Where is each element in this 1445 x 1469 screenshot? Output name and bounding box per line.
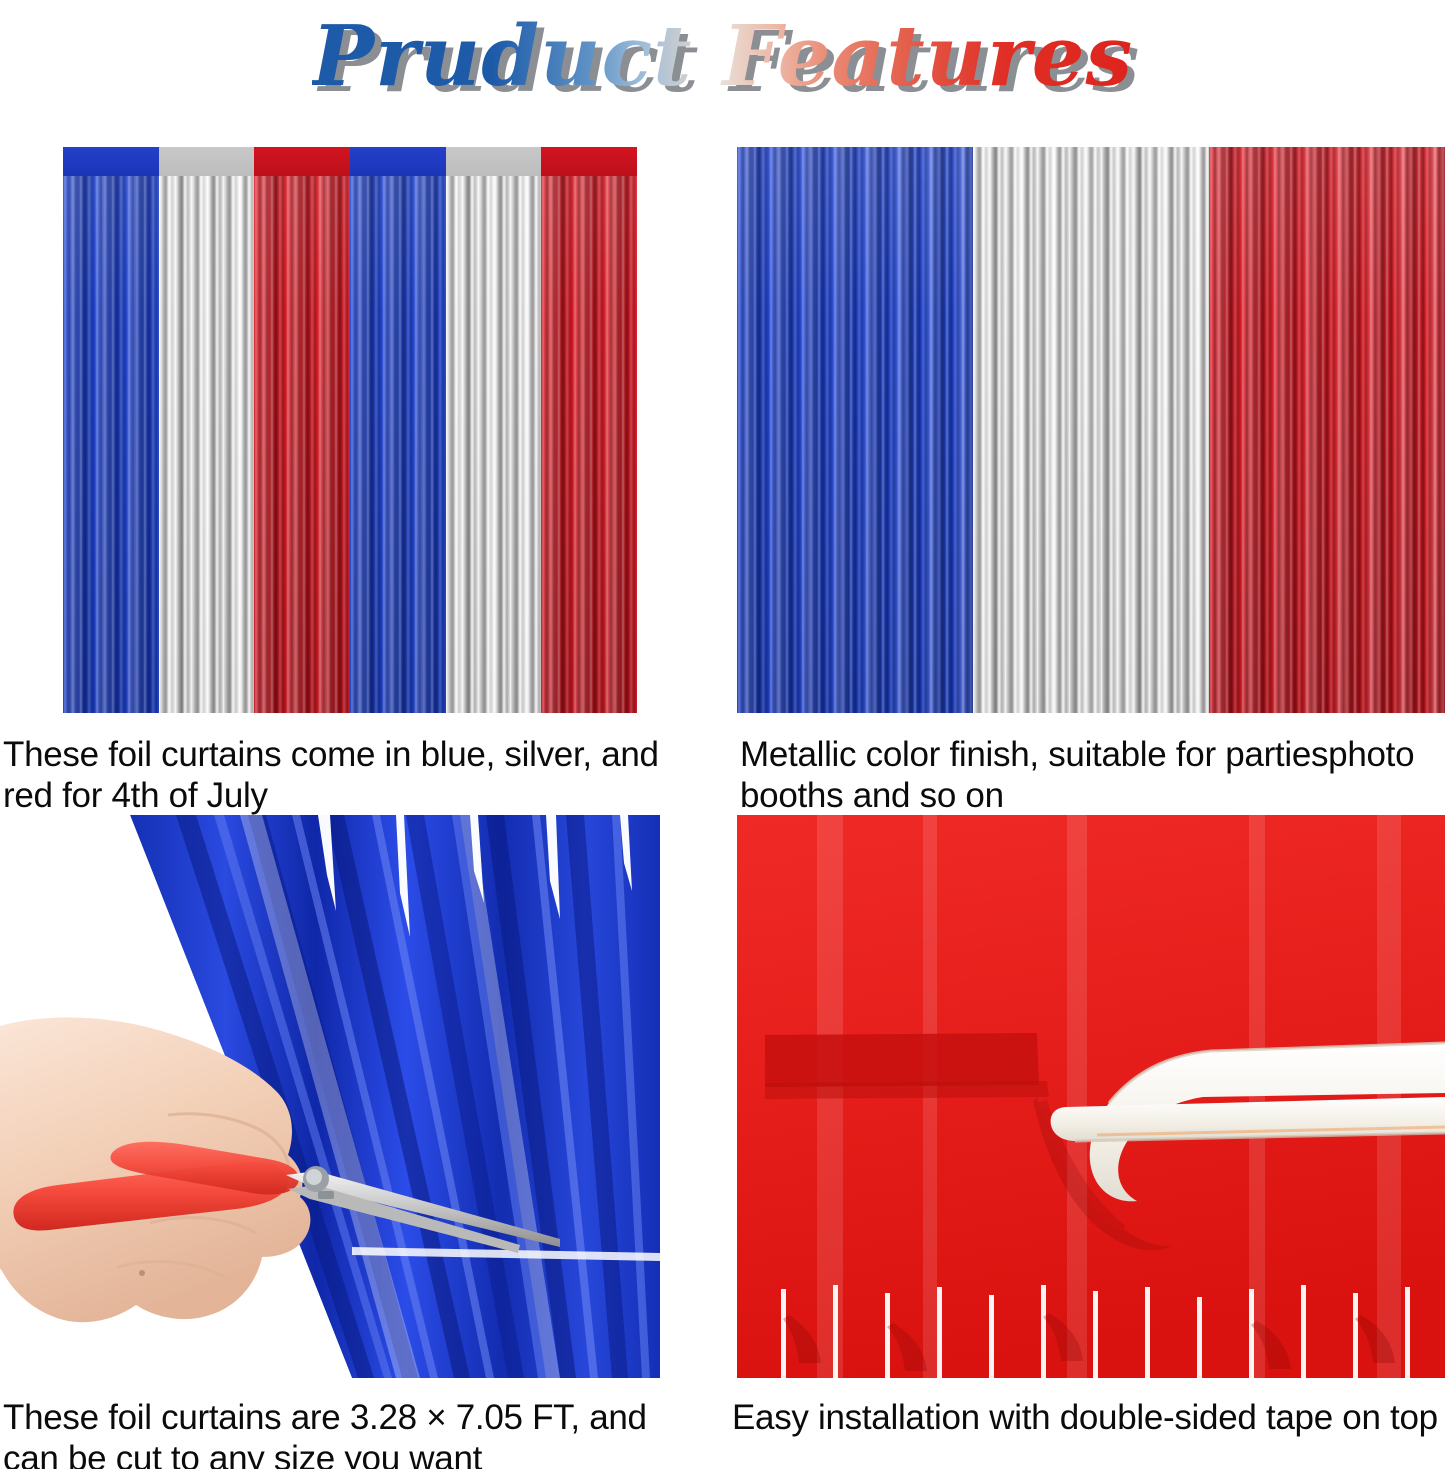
feature-caption-4: Easy installation with double-sided tape… (732, 1398, 1445, 1439)
feature-block-2 (737, 147, 1445, 713)
feature-caption-2: Metallic color finish, suitable for part… (740, 735, 1445, 816)
curtain-strip-blue (737, 147, 973, 713)
tape-scene-illustration (737, 815, 1445, 1378)
page-title-text: Pruduct Features Pruduct Features (312, 15, 1134, 98)
curtain-fringe (446, 147, 542, 713)
curtain-header-band (63, 147, 159, 176)
product-features-page: Pruduct Features Pruduct Features These … (0, 0, 1445, 1469)
page-title-fill: Pruduct Features (312, 7, 1134, 105)
feature-caption-3: These foil curtains are 3.28 × 7.05 FT, … (3, 1398, 675, 1469)
curtain-header-band (541, 147, 637, 176)
feature-block-4 (737, 815, 1445, 1378)
curtain-fringe (350, 147, 446, 713)
curtain-header-band (159, 147, 255, 176)
curtain-header-band (446, 147, 542, 176)
scissors-scene-illustration (0, 815, 660, 1378)
tape-edge-shadow (765, 1081, 1049, 1099)
feature-block-1 (63, 147, 637, 713)
curtain-strip-red (541, 147, 637, 713)
double-sided-tape-on-red-foil-photo (737, 815, 1445, 1378)
curtain-strip-silver (973, 147, 1209, 713)
curtain-strip-row (63, 147, 637, 713)
page-title: Pruduct Features Pruduct Features (0, 2, 1445, 110)
curtain-fringe (541, 147, 637, 713)
curtain-strip-red (254, 147, 350, 713)
foil-curtain-closeup-photo (737, 147, 1445, 713)
curtain-strip-silver (446, 147, 542, 713)
curtain-fringe (63, 147, 159, 713)
feature-block-3 (0, 815, 660, 1378)
feature-caption-1: These foil curtains come in blue, silver… (3, 735, 675, 816)
curtain-fringe (159, 147, 255, 713)
curtain-strip-blue (350, 147, 446, 713)
curtain-fringe (254, 147, 350, 713)
tape-backing-shadow-band (765, 1033, 1039, 1087)
curtain-strip-row (737, 147, 1445, 713)
curtain-strip-blue (63, 147, 159, 713)
curtain-header-band (254, 147, 350, 176)
curtain-strip-silver (159, 147, 255, 713)
curtain-fringe (1209, 147, 1445, 713)
curtain-fringe (737, 147, 973, 713)
curtain-header-band (350, 147, 446, 176)
curtain-fringe (973, 147, 1209, 713)
curtain-strip-red (1209, 147, 1445, 713)
scissors-cutting-blue-foil-photo (0, 815, 660, 1378)
foil-curtain-six-panel-photo (63, 147, 637, 713)
